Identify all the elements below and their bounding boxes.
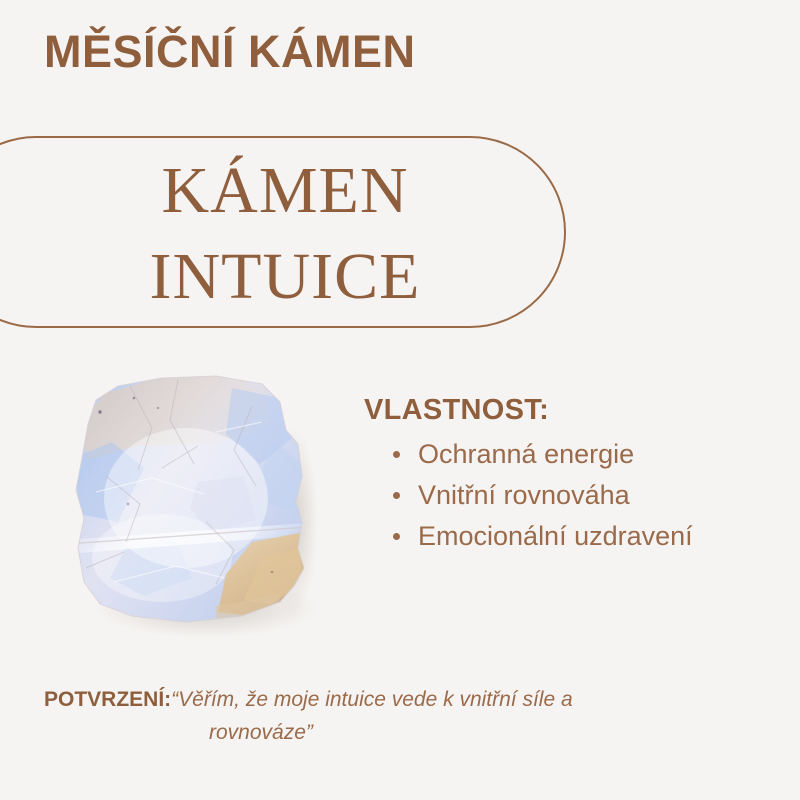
- properties-block: VLASTNOST: Ochranná energie Vnitřní rovn…: [364, 392, 784, 557]
- page-title: MĚSÍČNÍ KÁMEN: [44, 26, 416, 78]
- properties-list: Ochranná energie Vnitřní rovnováha Emoci…: [364, 434, 784, 557]
- list-item-label: Emocionální uzdravení: [418, 521, 693, 551]
- bullet-icon: [393, 492, 400, 499]
- poster-canvas: MĚSÍČNÍ KÁMEN KÁMEN INTUICE: [0, 0, 800, 800]
- affirmation-block: POTVRZENÍ:“Věřím, že moje intuice vede k…: [44, 684, 764, 749]
- headline-pill-frame: KÁMEN INTUICE: [0, 136, 566, 328]
- affirmation-line-2: rovnováze”: [209, 721, 313, 744]
- headline-group: KÁMEN INTUICE: [2, 138, 568, 330]
- properties-title: VLASTNOST:: [364, 392, 784, 428]
- bullet-icon: [393, 533, 400, 540]
- affirmation-label: POTVRZENÍ:: [44, 688, 171, 711]
- list-item-label: Vnitřní rovnováha: [418, 480, 630, 510]
- headline-line-2: INTUICE: [150, 234, 421, 320]
- list-item: Ochranná energie: [364, 434, 784, 475]
- affirmation-line-1: “Věřím, že moje intuice vede k vnitřní s…: [171, 688, 573, 711]
- moonstone-icon: [66, 372, 322, 640]
- list-item-label: Ochranná energie: [418, 439, 634, 469]
- headline-line-1: KÁMEN: [162, 148, 409, 234]
- list-item: Vnitřní rovnováha: [364, 475, 784, 516]
- bullet-icon: [393, 451, 400, 458]
- moonstone-image: [66, 372, 322, 640]
- list-item: Emocionální uzdravení: [364, 516, 784, 557]
